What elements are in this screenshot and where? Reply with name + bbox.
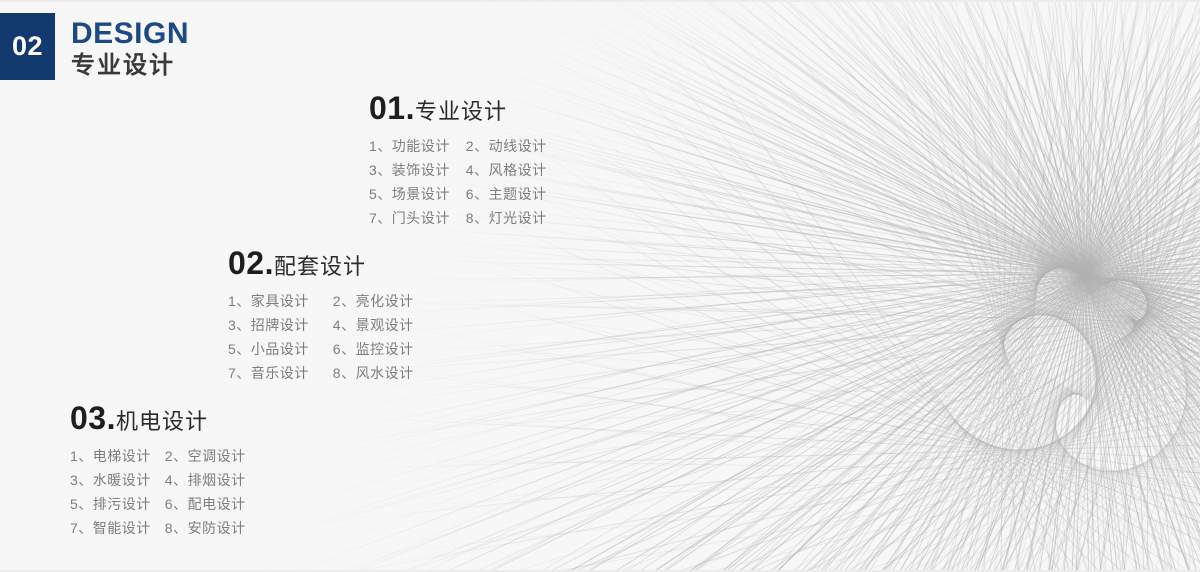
block-item-list: 1、功能设计 2、动线设计 3、装饰设计 4、风格设计 5、场景设计 6、主题设… [369,138,547,226]
block-heading: 03.机电设计 [70,402,246,434]
list-item: 2、动线设计 [466,138,547,154]
section-number-badge: 02 [0,13,55,80]
content-block-01: 01.专业设计 1、功能设计 2、动线设计 3、装饰设计 4、风格设计 5、场景… [369,92,547,226]
block-item-list: 1、家具设计 2、亮化设计 3、招牌设计 4、景观设计 5、小品设计 6、监控设… [228,293,414,381]
list-item: 8、安防设计 [165,520,246,536]
block-item-list: 1、电梯设计 2、空调设计 3、水暖设计 4、排烟设计 5、排污设计 6、配电设… [70,448,246,536]
list-item: 4、风格设计 [466,162,547,178]
list-item: 5、场景设计 [369,186,450,202]
list-item: 6、主题设计 [466,186,547,202]
block-title: 专业设计 [415,99,507,124]
content-block-03: 03.机电设计 1、电梯设计 2、空调设计 3、水暖设计 4、排烟设计 5、排污… [70,402,246,536]
list-item: 8、风水设计 [333,365,414,381]
list-item: 1、家具设计 [228,293,309,309]
block-number: 01. [369,90,415,126]
list-item: 7、音乐设计 [228,365,309,381]
list-item: 1、电梯设计 [70,448,151,464]
list-item: 4、排烟设计 [165,472,246,488]
block-number: 03. [70,400,116,436]
list-item: 6、监控设计 [333,341,414,357]
list-item: 3、招牌设计 [228,317,309,333]
list-item: 3、水暖设计 [70,472,151,488]
list-item: 5、排污设计 [70,496,151,512]
block-title: 配套设计 [274,254,366,279]
slide-canvas: 02 DESIGN 专业设计 01.专业设计 1、功能设计 2、动线设计 3、装… [0,0,1200,572]
block-title: 机电设计 [116,409,208,434]
list-item: 6、配电设计 [165,496,246,512]
list-item: 4、景观设计 [333,317,414,333]
list-item: 7、智能设计 [70,520,151,536]
block-heading: 02.配套设计 [228,247,414,279]
list-item: 1、功能设计 [369,138,450,154]
page-title-chinese: 专业设计 [71,52,189,80]
slide-header: 02 DESIGN 专业设计 [0,13,189,80]
list-item: 2、亮化设计 [333,293,414,309]
header-title-group: DESIGN 专业设计 [71,13,189,79]
list-item: 3、装饰设计 [369,162,450,178]
list-item: 2、空调设计 [165,448,246,464]
list-item: 7、门头设计 [369,210,450,226]
list-item: 5、小品设计 [228,341,309,357]
list-item: 8、灯光设计 [466,210,547,226]
content-block-02: 02.配套设计 1、家具设计 2、亮化设计 3、招牌设计 4、景观设计 5、小品… [228,247,414,381]
page-title-english: DESIGN [71,18,189,50]
block-heading: 01.专业设计 [369,92,547,124]
block-number: 02. [228,245,274,281]
